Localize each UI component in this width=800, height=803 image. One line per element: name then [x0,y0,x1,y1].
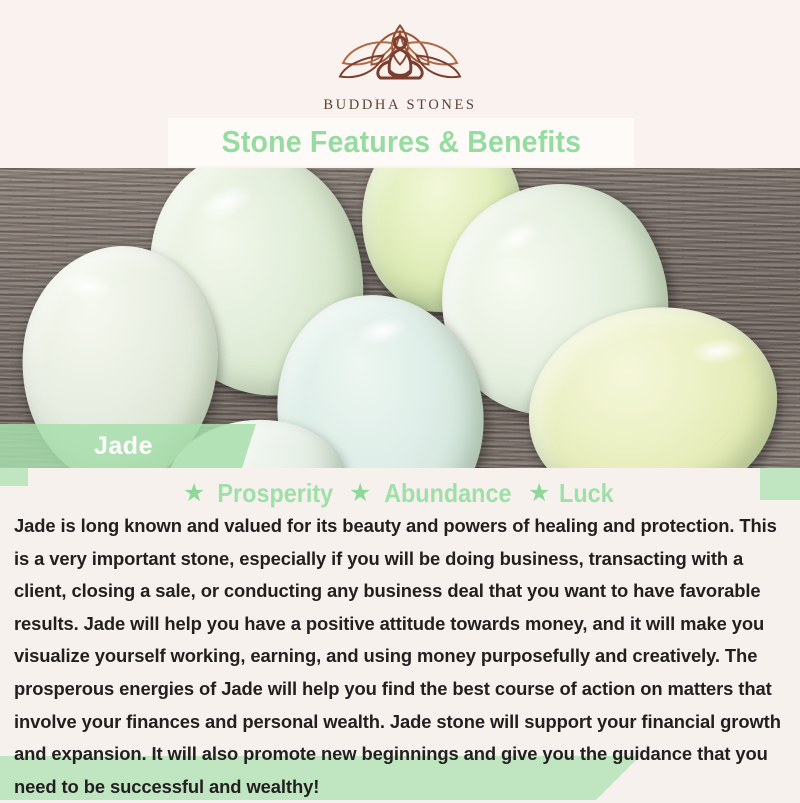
lotus-meditation-icon [325,18,475,90]
page-title: Stone Features & Benefits [221,124,581,160]
brand-name: BUDDHA STONES [323,97,476,114]
title-banner: Stone Features & Benefits [168,118,634,166]
benefit-label: Prosperity [218,478,334,509]
benefit-item-abundance: ★ Abundance [349,478,519,509]
star-icon: ★ [183,481,205,506]
stone-description: Jade is long known and valued for its be… [14,510,786,803]
benefit-item-prosperity: ★ Prosperity [183,478,340,509]
benefit-label: Abundance [384,478,511,509]
stone-name-band: Jade [0,424,256,468]
benefit-item-luck: ★ Luck [528,478,617,509]
benefit-label: Luck [559,478,614,509]
stone-name-label: Jade [94,432,153,461]
benefits-row: ★ Prosperity ★ Abundance ★ Luck [0,478,800,509]
stone-photo [0,168,800,468]
star-icon: ★ [349,481,371,506]
star-icon: ★ [528,481,550,506]
